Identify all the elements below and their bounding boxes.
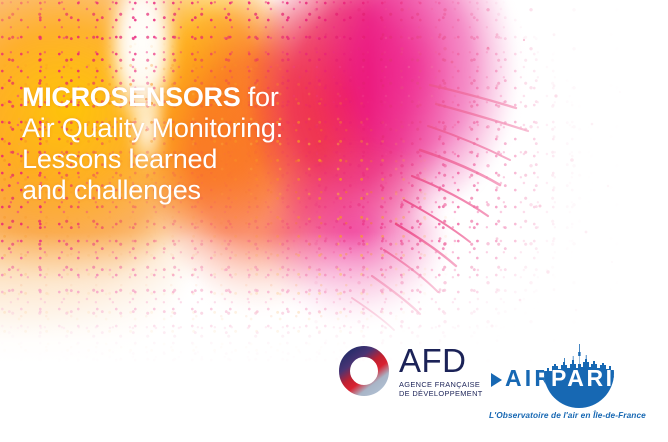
afd-wordmark: AFD (399, 344, 483, 377)
title-keyword: MICROSENSORS (22, 82, 240, 112)
airparif-word-parif: PARIF (551, 367, 631, 390)
afd-subtitle-line-2: DE DÉVELOPPEMENT (399, 389, 483, 398)
afd-subtitle: AGENCE FRANÇAISE DE DÉVELOPPEMENT (399, 380, 483, 399)
logo-row: AFD AGENCE FRANÇAISE DE DÉVELOPPEMENT AI… (0, 338, 668, 434)
afd-text-block: AFD AGENCE FRANÇAISE DE DÉVELOPPEMENT (399, 344, 483, 399)
title-line-2: Air Quality Monitoring: (22, 113, 422, 144)
afd-logo: AFD AGENCE FRANÇAISE DE DÉVELOPPEMENT (338, 344, 483, 399)
presentation-title-slide: MICROSENSORS for Air Quality Monitoring:… (0, 0, 668, 442)
afd-ring-icon (338, 345, 390, 397)
afd-subtitle-line-1: AGENCE FRANÇAISE (399, 380, 483, 389)
title-line-1-rest: for (240, 82, 278, 112)
slide-title: MICROSENSORS for Air Quality Monitoring:… (22, 82, 422, 206)
title-line-1: MICROSENSORS for (22, 82, 422, 113)
title-line-4: and challenges (22, 175, 422, 206)
airparif-logo: AIR (489, 338, 649, 430)
airparif-tagline: L'Observatoire de l'air en Île-de-France (489, 410, 646, 421)
play-triangle-icon (491, 373, 502, 387)
airparif-mark: AIR (489, 338, 649, 408)
title-line-3: Lessons learned (22, 144, 422, 175)
